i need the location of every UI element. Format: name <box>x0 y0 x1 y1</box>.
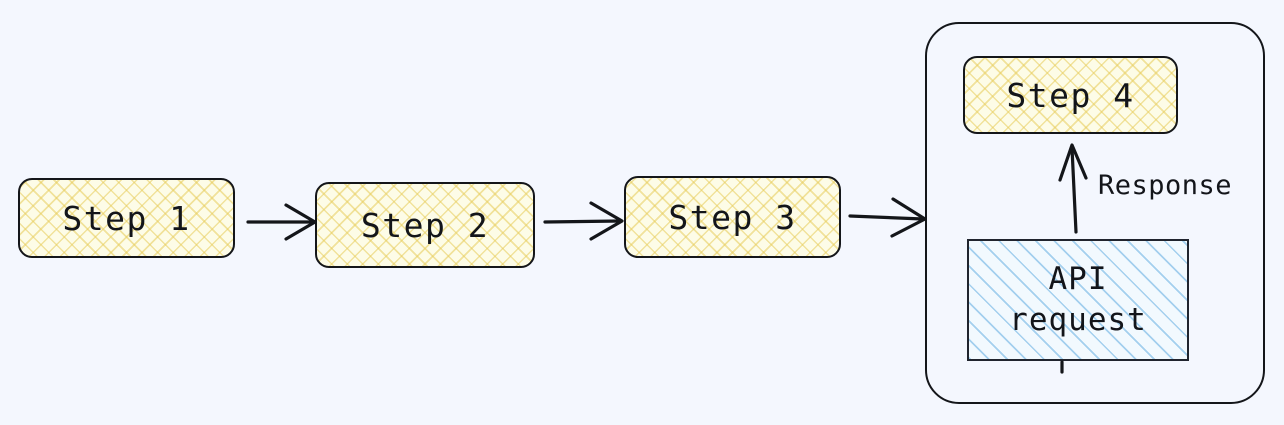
node-api-request[interactable]: API request <box>967 239 1189 361</box>
node-step-1[interactable]: Step 1 <box>18 178 235 258</box>
node-step-3[interactable]: Step 3 <box>624 176 841 258</box>
arrow-step2-to-step3 <box>545 203 622 239</box>
node-step-2[interactable]: Step 2 <box>315 182 535 268</box>
node-step-2-label: Step 2 <box>361 206 489 245</box>
node-api-request-line-1: API <box>1049 259 1108 300</box>
node-step-3-label: Step 3 <box>668 198 796 237</box>
node-api-request-line-2: request <box>1009 300 1147 341</box>
diagram-canvas: Step 1 Step 2 Step 3 Step 4 API request … <box>0 0 1284 425</box>
node-step-4-label: Step 4 <box>1006 76 1134 115</box>
arrow-step1-to-step2 <box>248 205 315 239</box>
node-step-1-label: Step 1 <box>62 199 190 238</box>
arrow-step3-to-container <box>850 199 925 236</box>
node-step-4[interactable]: Step 4 <box>963 56 1178 134</box>
edge-label-response: Response <box>1098 170 1232 201</box>
